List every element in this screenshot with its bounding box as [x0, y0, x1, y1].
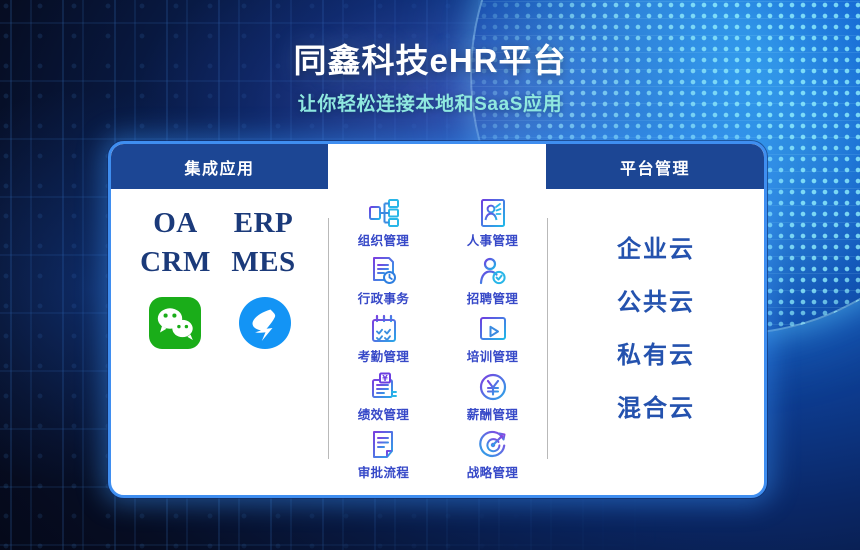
module-training-management[interactable]: 培训管理 — [438, 311, 547, 369]
recruitment-icon — [477, 256, 509, 286]
module-approval-process[interactable]: 审批流程 — [329, 427, 438, 485]
module-label: 绩效管理 — [358, 404, 410, 423]
dingtalk-icon[interactable] — [239, 297, 291, 349]
module-label: 人事管理 — [467, 230, 519, 249]
legacy-app-grid: OA ERP CRM MES — [132, 205, 308, 281]
cloud-private[interactable]: 私有云 — [617, 335, 695, 370]
tab-integrated-apps-label: 集成应用 — [184, 155, 254, 179]
hr-modules-panel: 组织管理 人事管理 — [329, 189, 547, 495]
approval-document-icon — [368, 430, 400, 460]
integrated-apps-panel: OA ERP CRM MES — [111, 189, 328, 495]
module-label: 考勤管理 — [358, 346, 410, 365]
platform-card: 集成应用 平台管理 OA ERP CRM MES — [108, 141, 767, 498]
module-label: 薪酬管理 — [467, 404, 519, 423]
cloud-hybrid[interactable]: 混合云 — [617, 388, 695, 423]
module-recruitment-management[interactable]: 招聘管理 — [438, 253, 547, 311]
legacy-app-crm[interactable]: CRM — [140, 244, 211, 281]
cloud-public[interactable]: 公共云 — [617, 282, 695, 317]
legacy-app-mes[interactable]: MES — [231, 244, 295, 281]
tab-platform-management-label: 平台管理 — [620, 155, 690, 179]
app-icon-row — [149, 297, 291, 349]
legacy-app-erp[interactable]: ERP — [234, 205, 294, 242]
legacy-app-oa[interactable]: OA — [153, 205, 198, 242]
module-performance-management[interactable]: ¥ 绩效管理 — [329, 369, 438, 427]
page-title: 同鑫科技eHR平台 — [0, 34, 860, 82]
module-label: 审批流程 — [358, 462, 410, 481]
attendance-calendar-icon — [368, 314, 400, 344]
poster-stage: 同鑫科技eHR平台 让你轻松连接本地和SaaS应用 集成应用 平台管理 OA E… — [0, 0, 860, 550]
strategy-target-icon — [477, 430, 509, 460]
tab-integrated-apps[interactable]: 集成应用 — [111, 144, 328, 189]
module-admin-affairs[interactable]: 行政事务 — [329, 253, 438, 311]
module-salary-management[interactable]: 薪酬管理 — [438, 369, 547, 427]
module-label: 行政事务 — [358, 288, 410, 307]
poster-title-block: 同鑫科技eHR平台 让你轻松连接本地和SaaS应用 — [0, 34, 860, 116]
tab-gap-spacer — [328, 144, 546, 189]
performance-icon: ¥ — [368, 372, 400, 402]
personnel-icon — [477, 198, 509, 228]
module-label: 战略管理 — [467, 462, 519, 481]
training-play-icon — [477, 314, 509, 344]
card-tab-bar: 集成应用 平台管理 — [111, 144, 764, 189]
org-chart-icon — [367, 198, 401, 228]
page-subtitle: 让你轻松连接本地和SaaS应用 — [0, 89, 860, 116]
wechat-icon[interactable] — [149, 297, 201, 349]
admin-affairs-icon — [368, 256, 400, 286]
platform-management-panel: 企业云 公共云 私有云 混合云 — [548, 189, 764, 495]
module-label: 培训管理 — [467, 346, 519, 365]
module-org-management[interactable]: 组织管理 — [329, 195, 438, 253]
module-attendance-management[interactable]: 考勤管理 — [329, 311, 438, 369]
module-strategy-management[interactable]: 战略管理 — [438, 427, 547, 485]
cloud-enterprise[interactable]: 企业云 — [617, 229, 695, 264]
svg-text:¥: ¥ — [382, 374, 388, 383]
module-label: 招聘管理 — [467, 288, 519, 307]
salary-yuan-icon — [477, 372, 509, 402]
module-personnel-management[interactable]: 人事管理 — [438, 195, 547, 253]
card-body: OA ERP CRM MES — [111, 189, 764, 495]
module-label: 组织管理 — [358, 230, 410, 249]
tab-platform-management[interactable]: 平台管理 — [546, 144, 764, 189]
